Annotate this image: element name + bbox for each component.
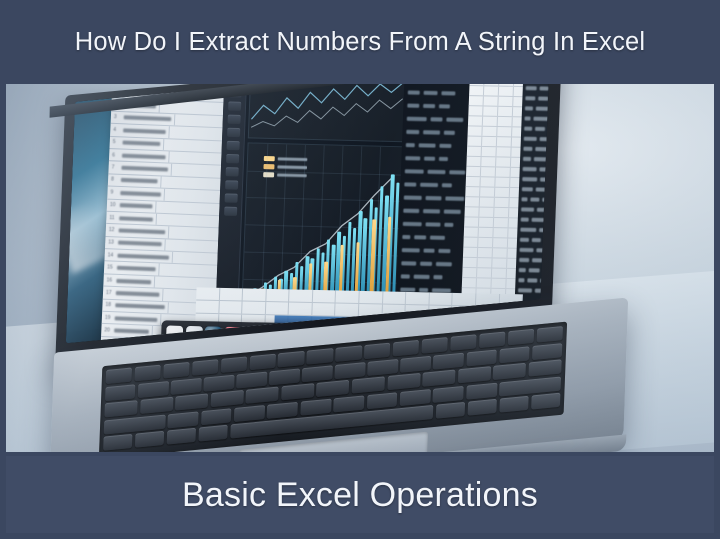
- grid-cell[interactable]: [498, 117, 513, 126]
- keyboard-key[interactable]: [433, 386, 464, 403]
- grid-cell[interactable]: [463, 238, 478, 247]
- row-number: 18: [105, 302, 112, 308]
- keyboard-key[interactable]: [393, 340, 420, 357]
- grid-cell[interactable]: [482, 147, 497, 156]
- keyboard-key[interactable]: [335, 362, 366, 379]
- number-cell: [523, 167, 537, 171]
- grid-cell[interactable]: [196, 287, 220, 300]
- keyboard-key[interactable]: [201, 408, 232, 425]
- keyboard-key[interactable]: [387, 373, 420, 390]
- number-cell: [519, 268, 526, 272]
- modifier-key[interactable]: [436, 402, 466, 419]
- cell-text: [123, 141, 161, 147]
- data-cell: [406, 142, 415, 146]
- data-cell: [439, 104, 450, 108]
- number-cell: [542, 269, 550, 273]
- data-cell: [441, 91, 455, 95]
- grid-cell[interactable]: [466, 167, 481, 176]
- number-cell: [545, 259, 550, 263]
- grid-cell[interactable]: [484, 96, 499, 105]
- grid-cell[interactable]: [463, 258, 478, 267]
- keyboard-key[interactable]: [234, 405, 265, 422]
- laptop: 12345678910111213141516171819202122: [9, 82, 650, 454]
- number-cell: [548, 188, 549, 192]
- keyboard-key[interactable]: [433, 352, 464, 369]
- cell[interactable]: [168, 126, 195, 139]
- number-cell: [520, 238, 529, 242]
- grid-cell[interactable]: [266, 302, 290, 315]
- keyboard-key[interactable]: [450, 334, 477, 351]
- keyboard-key[interactable]: [466, 349, 497, 366]
- grid-cell[interactable]: [495, 198, 510, 207]
- grid-cell[interactable]: [467, 136, 482, 145]
- grid-cell[interactable]: [465, 197, 480, 206]
- number-cell: [532, 238, 540, 242]
- grid-cell[interactable]: [479, 218, 494, 227]
- keyboard-key[interactable]: [421, 337, 448, 354]
- cell-text: [120, 191, 160, 197]
- grid-cell[interactable]: [406, 292, 430, 305]
- grid-cell[interactable]: [493, 248, 508, 257]
- grid-cell[interactable]: [497, 137, 512, 146]
- grid-cell[interactable]: [336, 303, 360, 316]
- modifier-key[interactable]: [531, 393, 561, 410]
- data-cell: [445, 222, 454, 226]
- cell-text: [119, 228, 166, 234]
- data-cell: [423, 130, 440, 134]
- bottom-banner: Basic Excel Operations: [0, 452, 720, 539]
- grid-cell[interactable]: [493, 238, 508, 247]
- grid-cell[interactable]: [464, 227, 479, 236]
- keyboard-key[interactable]: [192, 359, 219, 376]
- number-cell: [539, 137, 549, 141]
- keyboard-key[interactable]: [479, 332, 506, 349]
- cell[interactable]: [165, 239, 192, 252]
- cell[interactable]: [170, 164, 197, 177]
- keyboard-key[interactable]: [281, 383, 314, 400]
- row-number: 1: [115, 89, 122, 95]
- row-number: 5: [113, 139, 120, 145]
- grid-cell[interactable]: [483, 117, 498, 126]
- number-cell: [534, 117, 548, 121]
- data-cell: [405, 156, 420, 160]
- keyboard-key[interactable]: [236, 371, 267, 388]
- data-cell: [419, 143, 436, 147]
- keyboard-key[interactable]: [400, 389, 431, 406]
- number-cell: [523, 157, 531, 161]
- ribbon-tool-icon[interactable]: [224, 193, 237, 202]
- data-cell: [430, 235, 444, 239]
- keyboard-key[interactable]: [140, 397, 173, 414]
- cell[interactable]: [155, 201, 182, 214]
- grid-cell[interactable]: [492, 269, 507, 278]
- grid-cell[interactable]: [491, 279, 506, 288]
- grid-cell[interactable]: [478, 248, 493, 257]
- cell-text: [116, 291, 160, 297]
- row-number: 9: [110, 189, 117, 195]
- keyboard-key[interactable]: [246, 387, 279, 404]
- cell[interactable]: [158, 264, 185, 277]
- data-cell: [449, 170, 465, 174]
- ribbon-tool-icon[interactable]: [224, 207, 237, 216]
- grid-cell[interactable]: [468, 126, 483, 135]
- keyboard-key[interactable]: [368, 359, 399, 376]
- data-cell: [407, 103, 419, 107]
- grid-cell[interactable]: [498, 97, 513, 106]
- row-number: 8: [111, 177, 118, 183]
- grid-cell[interactable]: [462, 278, 477, 287]
- grid-cell[interactable]: [466, 157, 481, 166]
- data-cell: [405, 169, 424, 173]
- grid-cell[interactable]: [468, 106, 483, 115]
- number-cell: [521, 218, 530, 222]
- keyboard-key[interactable]: [105, 384, 136, 401]
- grid-cell[interactable]: [477, 278, 492, 287]
- keyboard-key[interactable]: [422, 370, 455, 387]
- data-cell: [428, 169, 445, 173]
- keyboard-key[interactable]: [458, 366, 491, 383]
- grid-cell[interactable]: [242, 301, 266, 314]
- grid-cell[interactable]: [498, 107, 513, 116]
- keyboard-key[interactable]: [168, 411, 199, 428]
- cell-text: [115, 303, 164, 309]
- modifier-key[interactable]: [198, 425, 228, 442]
- grid-cell[interactable]: [480, 187, 495, 196]
- keyboard-key[interactable]: [134, 365, 161, 382]
- number-cell: [540, 279, 549, 283]
- row-number: 20: [104, 327, 111, 333]
- grid-cell[interactable]: [482, 127, 497, 136]
- modifier-key[interactable]: [103, 434, 133, 451]
- cell[interactable]: [162, 289, 189, 302]
- laptop-photo: 12345678910111213141516171819202122: [0, 82, 720, 454]
- grid-cell[interactable]: [359, 291, 383, 304]
- data-cell: [403, 208, 419, 212]
- data-cell: [423, 209, 440, 213]
- number-cell: [545, 289, 549, 293]
- cell[interactable]: [168, 227, 195, 240]
- grid-cell[interactable]: [466, 177, 481, 186]
- grid-cell[interactable]: [463, 248, 478, 257]
- keyboard-key[interactable]: [367, 392, 398, 409]
- infographic-card: 12345678910111213141516171819202122: [0, 0, 720, 539]
- data-cell: [414, 274, 430, 278]
- keyboard-key[interactable]: [163, 362, 190, 379]
- modifier-key[interactable]: [135, 431, 165, 448]
- data-cell: [419, 287, 427, 291]
- data-cell: [401, 261, 416, 265]
- grid-cell[interactable]: [266, 289, 290, 302]
- grid-cell[interactable]: [497, 127, 512, 136]
- number-cell: [538, 97, 548, 101]
- grid-cell[interactable]: [495, 178, 510, 187]
- laptop-screen: 12345678910111213141516171819202122: [66, 82, 550, 343]
- cell[interactable]: [169, 151, 196, 164]
- row-number: 14: [108, 252, 115, 258]
- grid-cell[interactable]: [492, 258, 507, 267]
- cell-text: [116, 278, 150, 283]
- grid-cell[interactable]: [494, 208, 509, 217]
- page-title: How Do I Extract Numbers From A String I…: [75, 28, 646, 57]
- grid-cell[interactable]: [462, 268, 477, 277]
- keyboard-key[interactable]: [267, 402, 298, 419]
- row-number: 17: [106, 290, 113, 296]
- number-cell: [532, 258, 542, 262]
- data-cell: [424, 156, 435, 160]
- number-cell: [536, 107, 549, 111]
- ribbon-tool-icon[interactable]: [225, 167, 238, 176]
- page-subtitle: Basic Excel Operations: [182, 476, 538, 515]
- row-number: 13: [108, 239, 115, 245]
- cell[interactable]: [167, 302, 194, 315]
- cell-text: [114, 329, 148, 334]
- keyboard-key[interactable]: [249, 354, 276, 371]
- number-cell: [531, 198, 540, 202]
- cell-text: [121, 178, 158, 183]
- row-number: 4: [113, 127, 120, 133]
- number-cell: [527, 279, 537, 283]
- grid-cell[interactable]: [480, 197, 495, 206]
- grid-cell[interactable]: [469, 96, 484, 105]
- keyboard-key[interactable]: [104, 400, 137, 417]
- data-cell: [444, 209, 460, 213]
- grid-cell[interactable]: [477, 268, 492, 277]
- data-cell: [401, 274, 410, 278]
- number-cell: [540, 87, 549, 91]
- ribbon-tool-icon[interactable]: [227, 128, 240, 137]
- number-cell: [537, 208, 550, 212]
- row-number: 16: [106, 277, 113, 283]
- grid-cell[interactable]: [243, 288, 267, 301]
- grid-cell[interactable]: [464, 207, 479, 216]
- grid-cell[interactable]: [495, 188, 510, 197]
- grid-cell[interactable]: [496, 157, 511, 166]
- number-cell: [535, 147, 548, 151]
- cell-text: [117, 266, 155, 272]
- keyboard-key[interactable]: [106, 367, 133, 384]
- data-cell: [406, 129, 419, 133]
- number-cell: [525, 96, 535, 100]
- grid-cell[interactable]: [382, 305, 406, 318]
- keyboard-key[interactable]: [364, 343, 391, 360]
- row-number: 11: [109, 214, 116, 220]
- keyboard-key[interactable]: [300, 398, 331, 415]
- row-number: 12: [109, 227, 116, 233]
- keyboard-key[interactable]: [307, 348, 334, 365]
- data-cell: [423, 103, 435, 107]
- keyboard-key[interactable]: [171, 377, 202, 394]
- ribbon-tool-icon[interactable]: [227, 115, 240, 124]
- cell[interactable]: [153, 276, 180, 289]
- keyboard-key[interactable]: [175, 394, 208, 411]
- data-cell: [408, 90, 420, 94]
- grid-cell[interactable]: [479, 228, 494, 237]
- grid-cell[interactable]: [481, 167, 496, 176]
- keyboard-key[interactable]: [352, 377, 385, 394]
- keyboard-key[interactable]: [335, 345, 362, 362]
- cell[interactable]: [172, 252, 199, 265]
- keyboard-key[interactable]: [316, 380, 349, 397]
- data-cell: [402, 234, 410, 238]
- modifier-key[interactable]: [467, 399, 497, 416]
- grid-cell[interactable]: [469, 86, 484, 95]
- grid-cell[interactable]: [481, 157, 496, 166]
- bar-chart-main: [241, 142, 403, 312]
- cell[interactable]: [163, 189, 190, 202]
- number-cell: [532, 218, 545, 222]
- ribbon-tool-icon[interactable]: [226, 154, 239, 163]
- grid-cell[interactable]: [494, 218, 509, 227]
- number-cell: [524, 137, 537, 141]
- data-cell: [400, 287, 415, 291]
- keyboard-key[interactable]: [203, 374, 234, 391]
- grid-cell[interactable]: [464, 217, 479, 226]
- grid-cell[interactable]: [219, 288, 243, 301]
- grid-cell[interactable]: [219, 301, 243, 314]
- keyboard-key[interactable]: [499, 346, 530, 363]
- keyboard-key[interactable]: [269, 368, 300, 385]
- grid-cell[interactable]: [429, 292, 453, 305]
- data-cell: [404, 195, 422, 199]
- number-cell: [543, 238, 549, 242]
- number-cell: [521, 208, 534, 212]
- grid-cell[interactable]: [499, 294, 523, 307]
- number-cell: [518, 288, 532, 292]
- grid-cell[interactable]: [476, 293, 500, 306]
- number-cell: [548, 218, 550, 222]
- data-cell: [446, 117, 463, 121]
- grid-cell[interactable]: [465, 187, 480, 196]
- data-cell: [420, 261, 432, 265]
- grid-cell[interactable]: [405, 305, 429, 318]
- cell-text: [124, 116, 172, 122]
- ribbon-tool-icon[interactable]: [225, 180, 238, 189]
- data-cell: [423, 248, 435, 252]
- keyboard-key[interactable]: [302, 365, 333, 382]
- cell[interactable]: [174, 114, 201, 127]
- grid-cell[interactable]: [477, 258, 492, 267]
- ribbon-tool-icon[interactable]: [226, 141, 239, 150]
- grid-cell[interactable]: [312, 303, 336, 316]
- row-number: 7: [111, 164, 118, 170]
- grid-cell[interactable]: [493, 228, 508, 237]
- data-cell: [420, 182, 438, 186]
- data-cell: [426, 222, 441, 226]
- data-cell: [430, 117, 442, 121]
- keyboard-key[interactable]: [528, 360, 561, 377]
- grid-cell[interactable]: [496, 147, 511, 156]
- number-cell: [535, 188, 545, 192]
- grid-cell[interactable]: [483, 106, 498, 115]
- number-cell: [522, 177, 537, 181]
- grid-cell[interactable]: [479, 208, 494, 217]
- row-number: 6: [112, 152, 119, 158]
- grid-cell[interactable]: [484, 86, 499, 95]
- number-cell: [534, 157, 549, 161]
- row-number: 21: [104, 340, 111, 344]
- cell[interactable]: [156, 214, 183, 227]
- grid-cell[interactable]: [289, 289, 313, 302]
- number-cell: [519, 258, 529, 262]
- number-cell: [520, 228, 536, 232]
- number-cell: [540, 178, 550, 182]
- number-cell: [537, 248, 549, 252]
- keyboard-key[interactable]: [400, 355, 431, 372]
- number-cell: [523, 147, 532, 151]
- grid-cell[interactable]: [336, 290, 360, 303]
- keyboard-key[interactable]: [138, 381, 169, 398]
- grid-cell[interactable]: [453, 293, 477, 306]
- keyboard-key[interactable]: [536, 326, 563, 343]
- ribbon-tool-icon[interactable]: [228, 101, 241, 110]
- cell[interactable]: [163, 139, 190, 152]
- number-cell: [524, 127, 532, 131]
- data-cell: [439, 156, 448, 160]
- grid-cell[interactable]: [313, 290, 337, 303]
- grid-cell[interactable]: [499, 87, 514, 96]
- cell-text: [115, 316, 158, 322]
- cell-text: [123, 128, 166, 134]
- screen-bezel: 12345678910111213141516171819202122: [66, 82, 550, 343]
- cell-text: [122, 153, 166, 159]
- cell[interactable]: [160, 176, 187, 189]
- modifier-key[interactable]: [499, 396, 529, 413]
- number-cell: [520, 248, 534, 252]
- grid-cell[interactable]: [468, 116, 483, 125]
- number-cell: [539, 228, 550, 232]
- grid-cell[interactable]: [482, 137, 497, 146]
- data-cell: [414, 235, 426, 239]
- cell-text: [119, 216, 153, 221]
- grid-cell[interactable]: [496, 167, 511, 176]
- frame-right-strip: [714, 0, 720, 539]
- grid-cell[interactable]: [289, 302, 313, 315]
- keyboard-key[interactable]: [210, 390, 243, 407]
- keyboard-key[interactable]: [278, 351, 305, 368]
- keyboard-key[interactable]: [532, 343, 563, 360]
- modifier-key[interactable]: [166, 428, 196, 445]
- number-cell: [548, 127, 550, 131]
- keyboard-key[interactable]: [333, 395, 364, 412]
- chart-panel: [216, 82, 409, 314]
- grid-cell[interactable]: [196, 300, 220, 313]
- data-cell: [425, 195, 441, 199]
- data-cell: [433, 275, 442, 279]
- keyboard-key[interactable]: [493, 363, 526, 380]
- row-number: 10: [110, 202, 117, 208]
- number-cell: [518, 278, 524, 282]
- grid-cell[interactable]: [480, 177, 495, 186]
- keyboard-key[interactable]: [508, 329, 535, 346]
- data-cell: [444, 130, 455, 134]
- grid-cell[interactable]: [467, 147, 482, 156]
- number-cell: [522, 187, 533, 191]
- grid-cell[interactable]: [383, 291, 407, 304]
- keyboard-key[interactable]: [220, 356, 247, 373]
- keyboard-key[interactable]: [466, 382, 497, 399]
- cell-text: [120, 203, 152, 208]
- data-cell: [440, 143, 452, 147]
- grid-cell[interactable]: [359, 304, 383, 317]
- cell-text: [121, 166, 167, 172]
- number-cell: [526, 86, 537, 90]
- frame-left-strip: [0, 0, 6, 539]
- grid-cell[interactable]: [478, 238, 493, 247]
- data-cell: [403, 221, 422, 225]
- data-cell: [404, 182, 416, 186]
- top-banner: How Do I Extract Numbers From A String I…: [0, 0, 720, 84]
- number-cell: [535, 127, 545, 131]
